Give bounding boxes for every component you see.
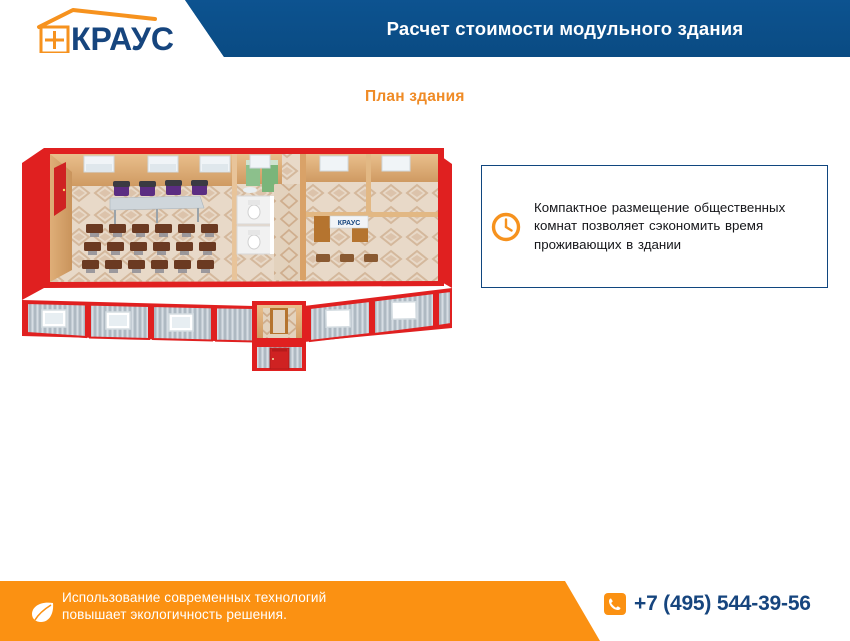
footer-tagline-line1: Использование современных технологий bbox=[62, 589, 482, 606]
phone-number: +7 (495) 544-39-56 bbox=[634, 592, 811, 616]
modular-building-illustration: КРАУС bbox=[14, 138, 469, 373]
building-left-frame bbox=[22, 148, 44, 300]
svg-text:КРАУС: КРАУС bbox=[338, 220, 361, 227]
window bbox=[148, 156, 178, 172]
info-callout: Компактное размещение общественных комна… bbox=[481, 165, 828, 288]
slide-root: КРАУС Расчет стоимости модульного здания… bbox=[0, 0, 850, 641]
callout-text: Компактное размещение общественных комна… bbox=[534, 199, 817, 255]
leaf-icon bbox=[30, 601, 56, 623]
logo-text: КРАУС bbox=[71, 21, 174, 53]
conference-room bbox=[50, 154, 232, 282]
company-logo: КРАУС bbox=[33, 5, 183, 53]
window bbox=[84, 156, 114, 172]
entrance-vestibule bbox=[252, 301, 306, 371]
window bbox=[200, 156, 230, 172]
clock-icon bbox=[490, 211, 522, 243]
page-title: Расчет стоимости модульного здания bbox=[300, 13, 830, 45]
reception-chairs bbox=[316, 254, 378, 262]
footer-tagline: Использование современных технологий пов… bbox=[62, 589, 482, 623]
building-facade bbox=[22, 288, 452, 371]
wall-sign: КРАУС bbox=[330, 216, 368, 228]
reception-and-offices: КРАУС bbox=[306, 154, 452, 288]
footer-tagline-line2: повышает экологичность решения. bbox=[62, 606, 482, 623]
contact-phone[interactable]: +7 (495) 544-39-56 bbox=[604, 592, 811, 616]
section-subtitle: План здания bbox=[365, 88, 465, 106]
phone-icon bbox=[604, 593, 626, 615]
